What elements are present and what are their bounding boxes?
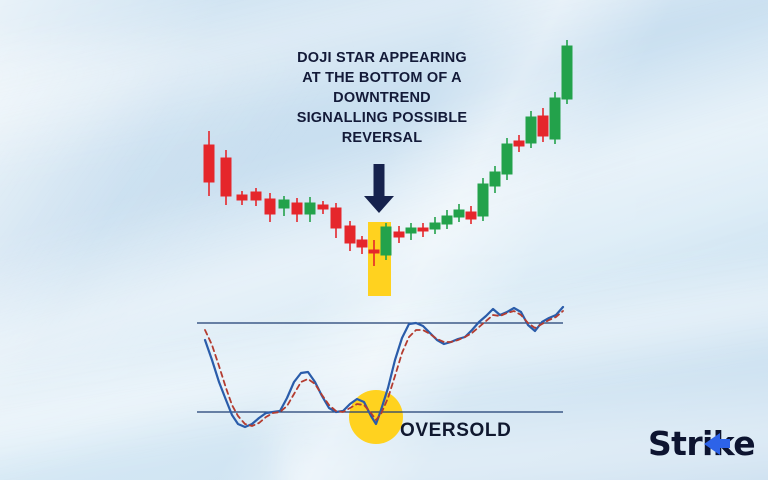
brand-name: Strike [648, 424, 755, 463]
brand-logo[interactable]: Strike [648, 424, 755, 464]
strike-arrow-tail-icon [718, 439, 730, 448]
oscillator-series-signal [205, 311, 563, 426]
oscillator-panel [0, 0, 768, 480]
oversold-label: OVERSOLD [400, 420, 511, 442]
infographic-canvas: DOJI STAR APPEARING AT THE BOTTOM OF A D… [0, 0, 768, 480]
